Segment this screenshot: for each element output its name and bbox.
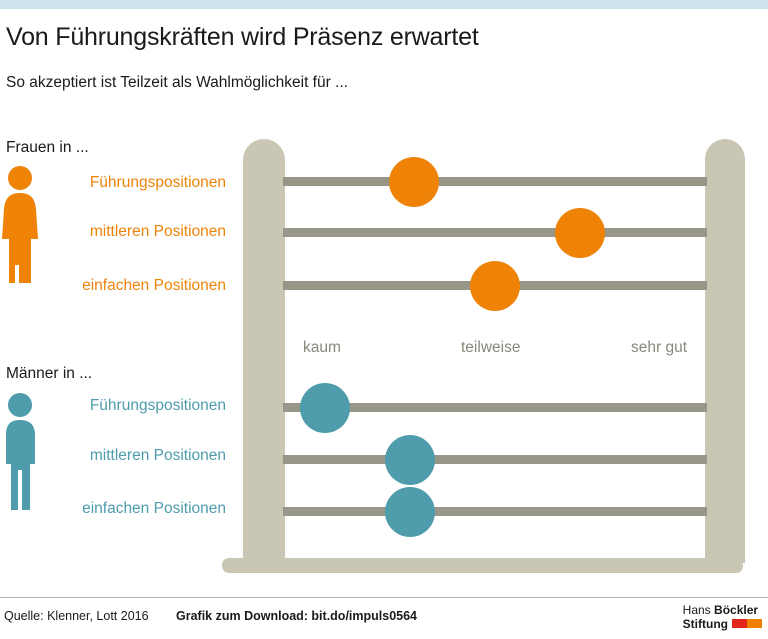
scale-label-teilweise: teilweise [461, 339, 520, 357]
abacus-chart [0, 0, 768, 639]
row-label-men-einfache-positionen: einfachen Positionen [82, 500, 226, 518]
abacus-rod-men-mittlere-positionen [283, 455, 707, 464]
scale-label-kaum: kaum [303, 339, 341, 357]
abacus-base [222, 558, 743, 573]
abacus-post-right [705, 139, 745, 563]
page-title: Von Führungskräften wird Präsenz erwarte… [6, 23, 746, 52]
bead-men-einfache-positionen [385, 487, 435, 537]
top-accent-bar [0, 0, 768, 9]
footer-download-link[interactable]: Grafik zum Download: bit.do/impuls0564 [176, 609, 417, 623]
logo-line-2: Stiftung [683, 617, 762, 631]
bead-men-mittlere-positionen [385, 435, 435, 485]
hans-boeckler-stiftung-logo: Hans Böckler Stiftung [683, 603, 762, 631]
row-label-men-mittlere-positionen: mittleren Positionen [90, 447, 226, 465]
group-heading-women: Frauen in ... [6, 139, 89, 157]
logo-flag-icon [732, 619, 762, 628]
logo-hans: Hans [683, 603, 714, 617]
infographic-page: Von Führungskräften wird Präsenz erwarte… [0, 0, 768, 639]
row-label-women-fuehrungspositionen: Führungspositionen [90, 174, 226, 192]
abacus-rod-women-fuehrungspositionen [283, 177, 707, 186]
logo-line-1: Hans Böckler [683, 603, 762, 617]
abacus-rod-women-mittlere-positionen [283, 228, 707, 237]
scale-label-sehr-gut: sehr gut [631, 339, 687, 357]
row-label-women-einfache-positionen: einfachen Positionen [82, 277, 226, 295]
bead-men-fuehrungspositionen [300, 383, 350, 433]
abacus-rod-women-einfache-positionen [283, 281, 707, 290]
bead-women-mittlere-positionen [555, 208, 605, 258]
logo-stiftung: Stiftung [683, 617, 728, 631]
male-figure-icon [2, 392, 44, 510]
footer-divider [0, 597, 768, 598]
logo-boeckler: Böckler [714, 603, 758, 617]
page-subtitle: So akzeptiert ist Teilzeit als Wahlmögli… [6, 74, 746, 92]
female-figure-icon [2, 165, 44, 283]
group-heading-men: Männer in ... [6, 365, 92, 383]
abacus-rod-men-einfache-positionen [283, 507, 707, 516]
abacus-rod-men-fuehrungspositionen [283, 403, 707, 412]
row-label-men-fuehrungspositionen: Führungspositionen [90, 397, 226, 415]
abacus-post-left [243, 139, 285, 563]
row-label-women-mittlere-positionen: mittleren Positionen [90, 223, 226, 241]
footer-source: Quelle: Klenner, Lott 2016 [4, 609, 149, 623]
bead-women-einfache-positionen [470, 261, 520, 311]
bead-women-fuehrungspositionen [389, 157, 439, 207]
